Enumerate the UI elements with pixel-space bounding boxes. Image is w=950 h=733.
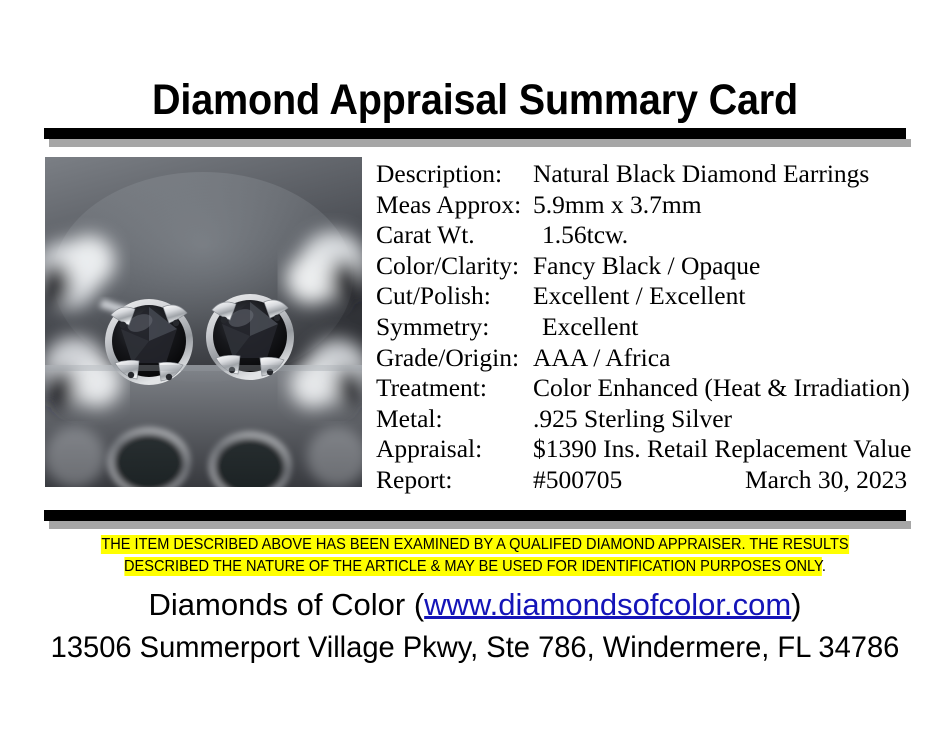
spec-value: 1.56tcw. [542,220,628,251]
divider-top [44,128,906,139]
spec-value: Natural Black Diamond Earrings [533,159,869,190]
spec-row-metal: Metal: .925 Sterling Silver [376,404,916,435]
spec-label: Cut/Polish: [376,281,491,312]
website-link[interactable]: www.diamondsofcolor.com [424,587,791,622]
disclaimer-highlight-2: DESCRIBED THE NATURE OF THE ARTICLE & MA… [124,557,822,576]
disclaimer-text: THE ITEM DESCRIBED ABOVE HAS BEEN EXAMIN… [0,534,950,578]
spec-row-report: Report: #500705 March 30, 2023 [376,465,916,496]
page-title: Diamond Appraisal Summary Card [38,76,912,125]
spec-label: Meas Approx: [376,190,521,221]
spec-row-color-clarity: Color/Clarity: Fancy Black / Opaque [376,251,916,282]
company-paren-close: ) [791,587,801,622]
spec-label: Symmetry: [376,312,489,343]
spec-label: Grade/Origin: [376,343,519,374]
spec-value-report-number: #500705 [533,465,622,496]
spec-value: Fancy Black / Opaque [533,251,760,282]
spec-row-carat-wt: Carat Wt. 1.56tcw. [376,220,916,251]
disclaimer-highlight-1: THE ITEM DESCRIBED ABOVE HAS BEEN EXAMIN… [101,535,848,554]
divider-bottom [44,510,906,521]
spec-value: Excellent / Excellent [533,281,745,312]
spec-row-symmetry: Symmetry: Excellent [376,312,916,343]
disclaimer-period: . [822,558,826,575]
spec-label: Carat Wt. [376,220,475,251]
spec-label: Description: [376,159,502,190]
spec-value: AAA / Africa [533,343,670,374]
spec-label: Report: [376,465,453,496]
spec-value: 5.9mm x 3.7mm [533,190,702,221]
spec-value: Excellent [542,312,638,343]
spec-value: $1390 Ins. Retail Replacement Value [533,434,911,465]
spec-row-grade-origin: Grade/Origin: AAA / Africa [376,343,916,374]
spec-row-description: Description: Natural Black Diamond Earri… [376,159,916,190]
spec-value: .925 Sterling Silver [533,404,732,435]
footer-company: Diamonds of Color (www.diamondsofcolor.c… [0,586,950,624]
product-photo [45,157,362,487]
spec-value-report-date: March 30, 2023 [745,465,907,496]
spec-label: Metal: [376,404,443,435]
spec-value: Color Enhanced (Heat & Irradiation) [533,373,910,404]
disclaimer-line-1: THE ITEM DESCRIBED ABOVE HAS BEEN EXAMIN… [29,534,922,556]
spec-row-treatment: Treatment: Color Enhanced (Heat & Irradi… [376,373,916,404]
spec-label: Appraisal: [376,434,482,465]
appraisal-card: Diamond Appraisal Summary Card [0,0,950,733]
footer-address: 13506 Summerport Village Pkwy, Ste 786, … [14,629,936,667]
company-name: Diamonds of Color ( [149,587,425,622]
spec-label: Color/Clarity: [376,251,519,282]
disclaimer-line-2: DESCRIBED THE NATURE OF THE ARTICLE & MA… [29,556,922,578]
spec-list: Description: Natural Black Diamond Earri… [376,159,916,496]
spec-label: Treatment: [376,373,487,404]
spec-row-appraisal: Appraisal: $1390 Ins. Retail Replacement… [376,434,916,465]
spec-row-cut-polish: Cut/Polish: Excellent / Excellent [376,281,916,312]
spec-row-meas-approx: Meas Approx: 5.9mm x 3.7mm [376,190,916,221]
